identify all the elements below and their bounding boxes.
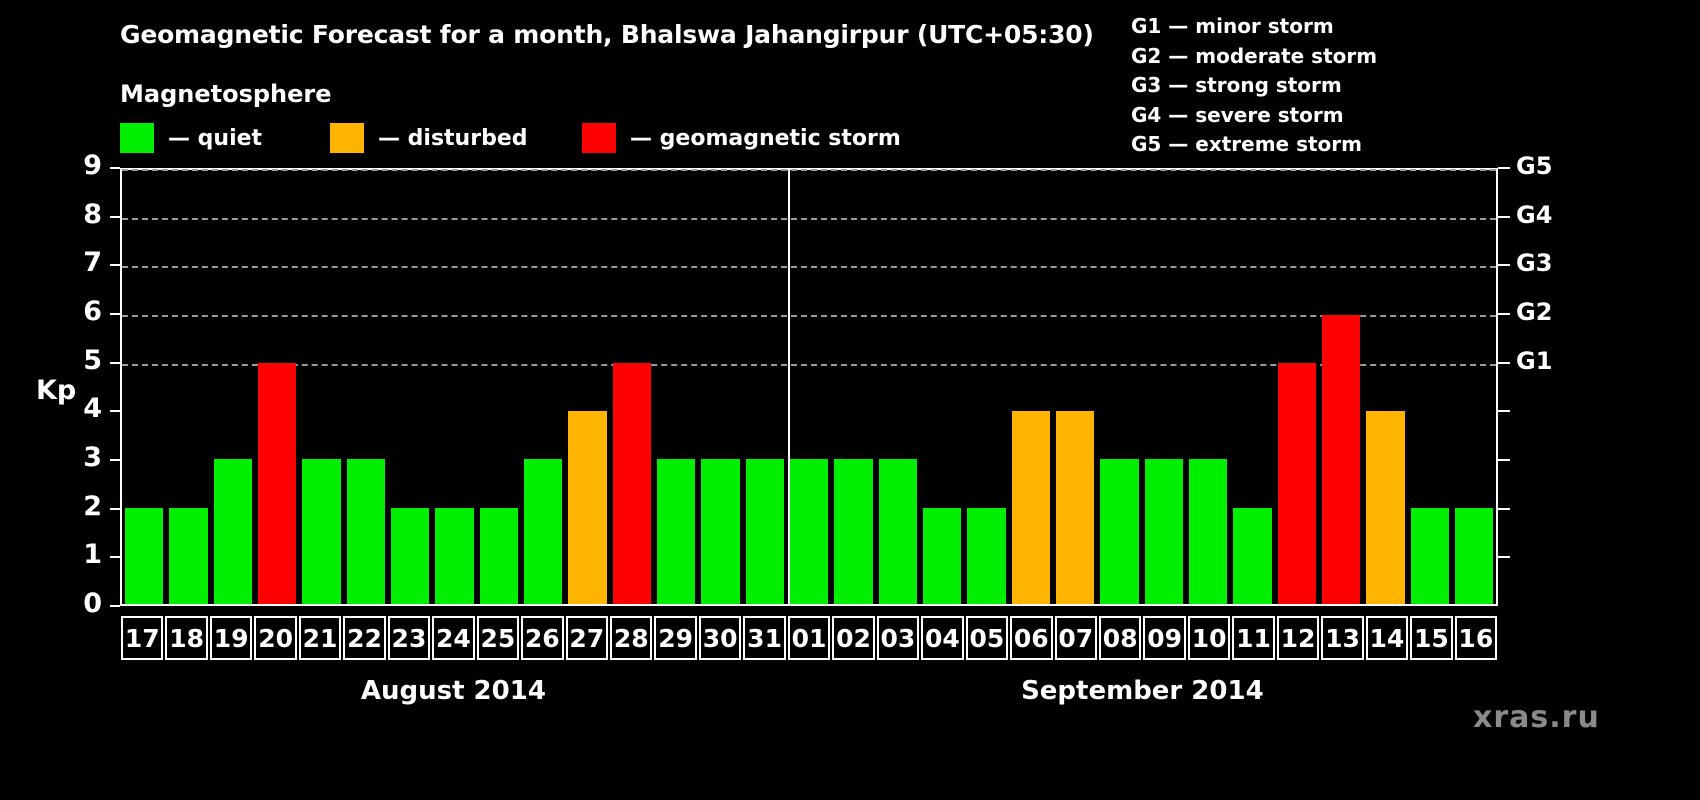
date-label-20: 20 — [254, 616, 296, 660]
legend-label: — geomagnetic storm — [630, 126, 901, 151]
bar-24[interactable] — [435, 508, 473, 604]
bar-slot — [1452, 170, 1496, 604]
bar-slot — [920, 170, 964, 604]
chart-root: Geomagnetic Forecast for a month, Bhalsw… — [0, 0, 1700, 800]
g-minor-tick-mark — [1498, 459, 1510, 461]
y-tick-mark — [110, 410, 120, 412]
bar-26[interactable] — [524, 459, 562, 604]
month-label: September 2014 — [787, 676, 1498, 706]
date-label-03: 03 — [877, 616, 919, 660]
g-scale-item-4: G4 — severe storm — [1131, 101, 1377, 131]
date-label-14: 14 — [1366, 616, 1408, 660]
date-label-21: 21 — [299, 616, 341, 660]
date-label-15: 15 — [1410, 616, 1452, 660]
bar-21[interactable] — [302, 459, 340, 604]
magnetosphere-label: Magnetosphere — [120, 80, 332, 108]
bar-slot — [1319, 170, 1363, 604]
date-label-05: 05 — [966, 616, 1008, 660]
g-scale-item-2: G2 — moderate storm — [1131, 42, 1377, 72]
bar-14[interactable] — [1366, 411, 1404, 604]
g-tick-label: G3 — [1516, 249, 1576, 277]
date-label-02: 02 — [832, 616, 874, 660]
y-tick-label: 5 — [62, 345, 102, 376]
date-label-22: 22 — [343, 616, 385, 660]
g-tick-mark — [1498, 313, 1510, 315]
y-tick-mark — [110, 508, 120, 510]
g-scale-item-1: G1 — minor storm — [1131, 12, 1377, 42]
month-label: August 2014 — [120, 676, 787, 706]
g-tick-label: G5 — [1516, 152, 1576, 180]
bar-slot — [1408, 170, 1452, 604]
bar-25[interactable] — [480, 508, 518, 604]
g-minor-tick-mark — [1498, 410, 1510, 412]
bar-slot — [1053, 170, 1097, 604]
bar-22[interactable] — [347, 459, 385, 604]
bar-17[interactable] — [125, 508, 163, 604]
legend-swatch-icon — [330, 123, 364, 153]
bar-04[interactable] — [923, 508, 961, 604]
bar-12[interactable] — [1278, 363, 1316, 604]
date-label-09: 09 — [1143, 616, 1185, 660]
bar-slot — [521, 170, 565, 604]
legend-item-2: — geomagnetic storm — [582, 122, 901, 154]
y-tick-mark — [110, 264, 120, 266]
bar-10[interactable] — [1189, 459, 1227, 604]
bar-slot — [122, 170, 166, 604]
y-tick-mark — [110, 167, 120, 169]
y-tick-mark — [110, 459, 120, 461]
g-tick-mark — [1498, 264, 1510, 266]
g-minor-tick-mark — [1498, 508, 1510, 510]
bar-slot — [964, 170, 1008, 604]
g-tick-mark — [1498, 216, 1510, 218]
y-tick-label: 9 — [62, 150, 102, 181]
date-label-16: 16 — [1455, 616, 1497, 660]
legend-item-0: — quiet — [120, 122, 262, 154]
legend-swatch-icon — [120, 123, 154, 153]
y-tick-mark — [110, 556, 120, 558]
date-label-08: 08 — [1099, 616, 1141, 660]
bar-slot — [255, 170, 299, 604]
g-scale-legend: G1 — minor stormG2 — moderate stormG3 — … — [1131, 12, 1377, 160]
y-tick-mark — [110, 362, 120, 364]
legend-label: — disturbed — [378, 126, 528, 151]
y-tick-label: 0 — [62, 588, 102, 619]
bar-slot — [565, 170, 609, 604]
bar-28[interactable] — [613, 363, 651, 604]
bar-slot — [743, 170, 787, 604]
date-label-06: 06 — [1010, 616, 1052, 660]
date-label-26: 26 — [521, 616, 563, 660]
bar-30[interactable] — [701, 459, 739, 604]
y-tick-label: 2 — [62, 491, 102, 522]
date-label-17: 17 — [121, 616, 163, 660]
legend-swatch-icon — [582, 123, 616, 153]
bar-02[interactable] — [834, 459, 872, 604]
bar-slot — [1230, 170, 1274, 604]
bar-slot — [698, 170, 742, 604]
date-label-31: 31 — [743, 616, 785, 660]
bar-slot — [1363, 170, 1407, 604]
bar-16[interactable] — [1455, 508, 1493, 604]
bar-slot — [166, 170, 210, 604]
plot-area — [120, 168, 1498, 606]
bar-slot — [787, 170, 831, 604]
g-tick-label: G4 — [1516, 201, 1576, 229]
bar-slot — [1097, 170, 1141, 604]
bar-slot — [1009, 170, 1053, 604]
date-label-19: 19 — [210, 616, 252, 660]
bar-slot — [299, 170, 343, 604]
date-label-24: 24 — [432, 616, 474, 660]
bar-20[interactable] — [258, 363, 296, 604]
bar-08[interactable] — [1100, 459, 1138, 604]
bar-19[interactable] — [214, 459, 252, 604]
g-scale-item-5: G5 — extreme storm — [1131, 130, 1377, 160]
y-tick-label: 7 — [62, 247, 102, 278]
bar-03[interactable] — [879, 459, 917, 604]
bar-slot — [1186, 170, 1230, 604]
date-label-30: 30 — [699, 616, 741, 660]
bar-01[interactable] — [790, 459, 828, 604]
bar-series — [122, 170, 1496, 604]
bar-slot — [477, 170, 521, 604]
y-tick-label: 4 — [62, 393, 102, 424]
bar-slot — [654, 170, 698, 604]
g-tick-mark — [1498, 167, 1510, 169]
g-scale-item-3: G3 — strong storm — [1131, 71, 1377, 101]
date-label-12: 12 — [1277, 616, 1319, 660]
bar-slot — [344, 170, 388, 604]
bar-slot — [876, 170, 920, 604]
bar-slot — [211, 170, 255, 604]
bar-slot — [432, 170, 476, 604]
legend-label: — quiet — [168, 126, 262, 151]
date-label-18: 18 — [165, 616, 207, 660]
bar-29[interactable] — [657, 459, 695, 604]
y-tick-mark — [110, 216, 120, 218]
g-tick-label: G1 — [1516, 347, 1576, 375]
g-minor-tick-mark — [1498, 556, 1510, 558]
month-axis: August 2014September 2014 — [120, 676, 1498, 716]
date-label-07: 07 — [1055, 616, 1097, 660]
bar-27[interactable] — [568, 411, 606, 604]
bar-slot — [831, 170, 875, 604]
bar-11[interactable] — [1233, 508, 1271, 604]
g-tick-mark — [1498, 362, 1510, 364]
date-label-29: 29 — [654, 616, 696, 660]
y-tick-mark — [110, 605, 120, 607]
y-tick-mark — [110, 313, 120, 315]
bar-13[interactable] — [1322, 315, 1360, 604]
y-tick-label: 3 — [62, 442, 102, 473]
bar-23[interactable] — [391, 508, 429, 604]
date-label-25: 25 — [477, 616, 519, 660]
date-label-23: 23 — [388, 616, 430, 660]
date-label-28: 28 — [610, 616, 652, 660]
y-tick-label: 8 — [62, 199, 102, 230]
date-label-10: 10 — [1188, 616, 1230, 660]
bar-15[interactable] — [1411, 508, 1449, 604]
date-label-27: 27 — [566, 616, 608, 660]
date-axis: 1718192021222324252627282930310102030405… — [120, 616, 1498, 660]
bar-05[interactable] — [967, 508, 1005, 604]
legend-item-1: — disturbed — [330, 122, 528, 154]
bar-slot — [1275, 170, 1319, 604]
date-label-01: 01 — [788, 616, 830, 660]
g-tick-label: G2 — [1516, 298, 1576, 326]
y-tick-label: 1 — [62, 539, 102, 570]
watermark: xras.ru — [1473, 700, 1600, 735]
page-title: Geomagnetic Forecast for a month, Bhalsw… — [120, 20, 1094, 49]
month-divider — [788, 170, 790, 604]
date-label-13: 13 — [1321, 616, 1363, 660]
bar-07[interactable] — [1056, 411, 1094, 604]
bar-06[interactable] — [1012, 411, 1050, 604]
date-label-11: 11 — [1232, 616, 1274, 660]
bar-18[interactable] — [169, 508, 207, 604]
bar-31[interactable] — [746, 459, 784, 604]
bar-slot — [610, 170, 654, 604]
bar-slot — [388, 170, 432, 604]
bar-09[interactable] — [1145, 459, 1183, 604]
y-tick-label: 6 — [62, 296, 102, 327]
bar-slot — [1142, 170, 1186, 604]
date-label-04: 04 — [921, 616, 963, 660]
